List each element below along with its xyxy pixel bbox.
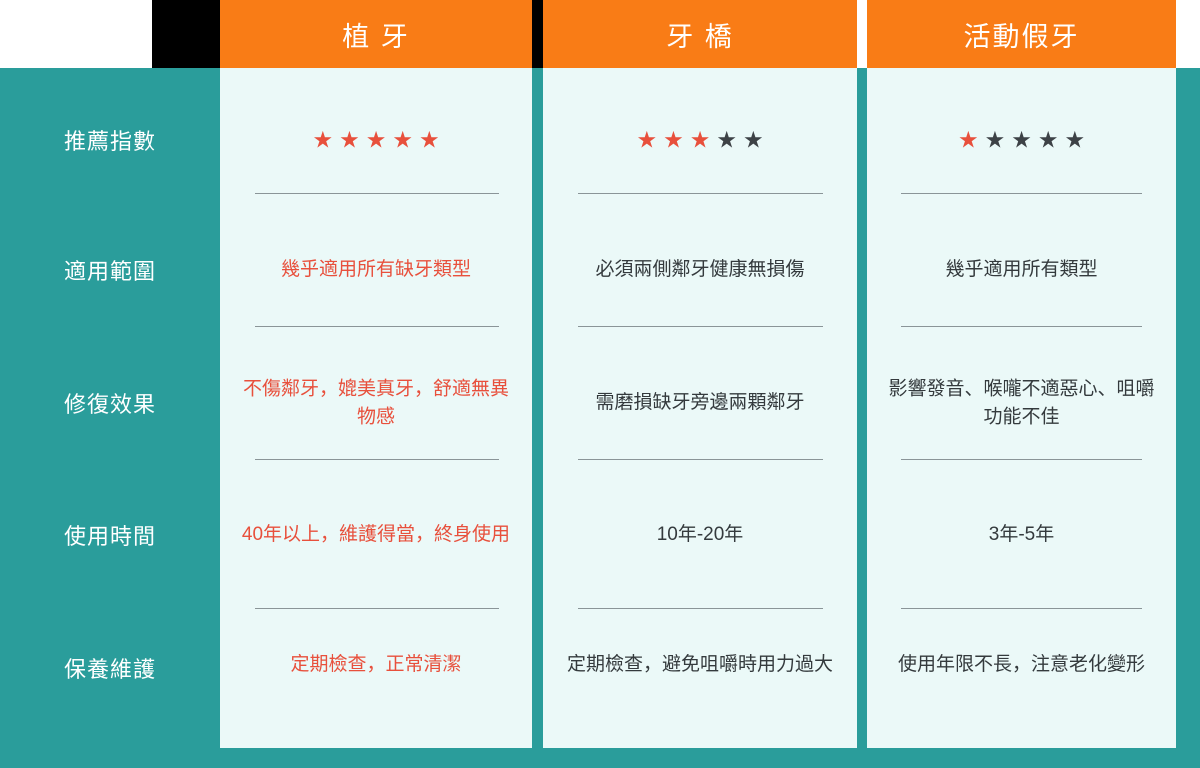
star-empty-icon: ★ bbox=[743, 129, 764, 152]
column-header-denture[interactable]: 活動假牙 bbox=[867, 0, 1176, 68]
cell-denture-applicability: 幾乎適用所有類型 bbox=[885, 256, 1158, 284]
star-empty-icon: ★ bbox=[985, 129, 1006, 152]
comparison-table: 植 牙 牙 橋 活動假牙 推薦指數 適用範圍 修復效果 使用時間 保養維護 ★★… bbox=[0, 0, 1200, 768]
divider-bridge-2 bbox=[578, 326, 823, 327]
cell-implant-applicability: 幾乎適用所有缺牙類型 bbox=[238, 256, 514, 284]
divider-implant-2 bbox=[255, 326, 499, 327]
divider-denture-3 bbox=[901, 459, 1142, 460]
cell-bridge-maintenance: 定期檢查，避免咀嚼時用力過大 bbox=[561, 651, 839, 679]
row-label-applicability: 適用範圍 bbox=[0, 254, 220, 286]
star-filled-icon: ★ bbox=[636, 129, 657, 152]
star-empty-icon: ★ bbox=[1038, 129, 1059, 152]
divider-bridge-4 bbox=[578, 608, 823, 609]
divider-denture-2 bbox=[901, 326, 1142, 327]
cell-implant-restoration: 不傷鄰牙，媲美真牙，舒適無異物感 bbox=[238, 375, 514, 430]
star-filled-icon: ★ bbox=[690, 129, 711, 152]
cell-denture-restoration: 影響發音、喉嚨不適惡心、咀嚼功能不佳 bbox=[885, 375, 1158, 430]
star-filled-icon: ★ bbox=[312, 129, 333, 152]
star-empty-icon: ★ bbox=[1011, 129, 1032, 152]
divider-bridge-1 bbox=[578, 193, 823, 194]
star-filled-icon: ★ bbox=[366, 129, 387, 152]
divider-denture-4 bbox=[901, 608, 1142, 609]
row-label-maintenance: 保養維護 bbox=[0, 652, 220, 684]
row-label-recommendation: 推薦指數 bbox=[0, 124, 220, 156]
star-filled-icon: ★ bbox=[958, 129, 979, 152]
cell-bridge-applicability: 必須兩側鄰牙健康無損傷 bbox=[561, 256, 839, 284]
divider-denture-1 bbox=[901, 193, 1142, 194]
cell-bridge-restoration: 需磨損缺牙旁邊兩顆鄰牙 bbox=[561, 389, 839, 417]
rating-stars-bridge: ★★★★★ bbox=[561, 129, 839, 152]
cell-denture-maintenance: 使用年限不長，注意老化變形 bbox=[885, 651, 1158, 679]
star-filled-icon: ★ bbox=[663, 129, 684, 152]
cell-bridge-lifespan: 10年-20年 bbox=[561, 521, 839, 549]
divider-implant-4 bbox=[255, 608, 499, 609]
row-label-restoration: 修復效果 bbox=[0, 387, 220, 419]
star-filled-icon: ★ bbox=[392, 129, 413, 152]
row-label-lifespan: 使用時間 bbox=[0, 519, 220, 551]
divider-implant-3 bbox=[255, 459, 499, 460]
column-header-bridge[interactable]: 牙 橋 bbox=[543, 0, 857, 68]
cell-implant-lifespan: 40年以上，維護得當，終身使用 bbox=[238, 521, 514, 549]
star-filled-icon: ★ bbox=[339, 129, 360, 152]
cell-denture-lifespan: 3年-5年 bbox=[885, 521, 1158, 549]
header-row: 植 牙 牙 橋 活動假牙 bbox=[0, 0, 1200, 68]
divider-implant-1 bbox=[255, 193, 499, 194]
column-header-implant[interactable]: 植 牙 bbox=[220, 0, 532, 68]
row-label-column: 推薦指數 適用範圍 修復效果 使用時間 保養維護 bbox=[0, 68, 220, 748]
rating-stars-denture: ★★★★★ bbox=[885, 129, 1158, 152]
cell-implant-maintenance: 定期檢查，正常清潔 bbox=[238, 651, 514, 679]
header-gap-strip-right bbox=[857, 0, 867, 68]
star-empty-icon: ★ bbox=[716, 129, 737, 152]
divider-bridge-3 bbox=[578, 459, 823, 460]
star-empty-icon: ★ bbox=[1064, 129, 1085, 152]
star-filled-icon: ★ bbox=[419, 129, 440, 152]
rating-stars-implant: ★★★★★ bbox=[238, 129, 514, 152]
